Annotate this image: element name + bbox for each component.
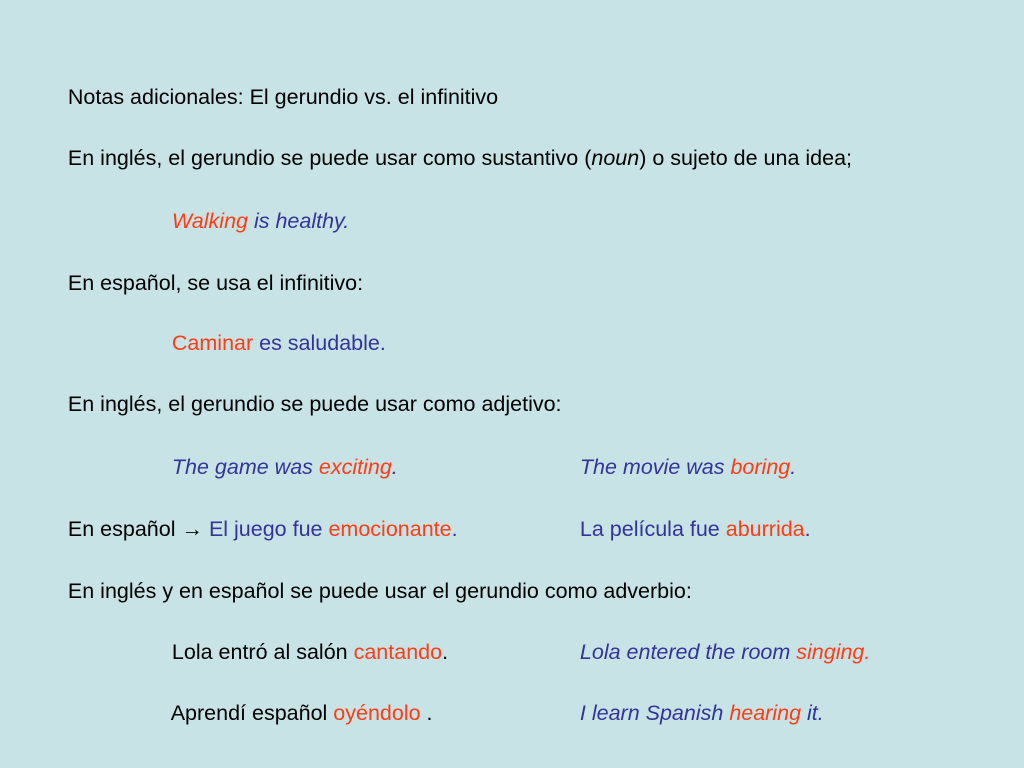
spanish-label-with-arrow: En español → [68, 517, 209, 541]
rule-spanish-infinitive-text: En español, se usa el infinitivo: [68, 271, 363, 295]
example-game-gerund: exciting [319, 455, 392, 479]
example-i-learn-spanish: I learn Spanish hearing it. [556, 674, 824, 752]
rule-adjective-text: En inglés, el gerundio se puede usar com… [68, 392, 562, 416]
example-aprendi-gerund: oyéndolo [333, 701, 420, 725]
slide-canvas: Notas adicionales: El gerundio vs. el in… [0, 0, 1024, 768]
spanish-pelicula-period: . [805, 517, 811, 541]
example-game-subject: The game was [172, 455, 319, 479]
example-movie-period: . [790, 455, 796, 479]
rule-adverb-text: En inglés y en español se puede usar el … [68, 579, 692, 603]
example-ilearn-gerund: hearing [729, 701, 801, 725]
example-ilearn-object: it. [801, 701, 824, 725]
rule-noun-part2: ) o sujeto de una idea; [639, 146, 852, 170]
rule-noun-part1: En inglés, el gerundio se puede usar com… [68, 146, 591, 170]
example-walking-gerund: Walking [172, 209, 248, 233]
example-movie-gerund: boring [730, 455, 790, 479]
example-aprendi-subject: Aprendí español [171, 701, 334, 725]
example-caminar-rest: es saludable. [253, 331, 386, 355]
example-game-period: . [392, 455, 398, 479]
spanish-pelicula-subject: La película fue [580, 517, 726, 541]
spanish-juego-adjective: emocionante [328, 517, 451, 541]
example-walking-rest: is healthy. [248, 209, 349, 233]
spanish-pelicula-adjective: aburrida [726, 517, 805, 541]
example-lola-en-subject: Lola entered the room [580, 640, 796, 664]
example-ilearn-subject: I learn Spanish [580, 701, 729, 725]
example-caminar-infinitive: Caminar [172, 331, 253, 355]
example-aprendi-period: . [421, 701, 433, 725]
spanish-juego-subject: El juego fue [209, 517, 329, 541]
slide-title-text: Notas adicionales: El gerundio vs. el in… [68, 85, 498, 109]
example-aprendi-espanol: Aprendí español oyéndolo . [148, 674, 433, 752]
spanish-juego-period: . [452, 517, 458, 541]
example-lola-es-subject: Lola entró al salón [172, 640, 354, 664]
example-lola-es-gerund: cantando [354, 640, 442, 664]
example-lola-en-gerund: singing. [796, 640, 870, 664]
example-lola-es-period: . [442, 640, 448, 664]
rule-noun-italic-noun: noun [591, 146, 639, 170]
example-movie-subject: The movie was [580, 455, 731, 479]
